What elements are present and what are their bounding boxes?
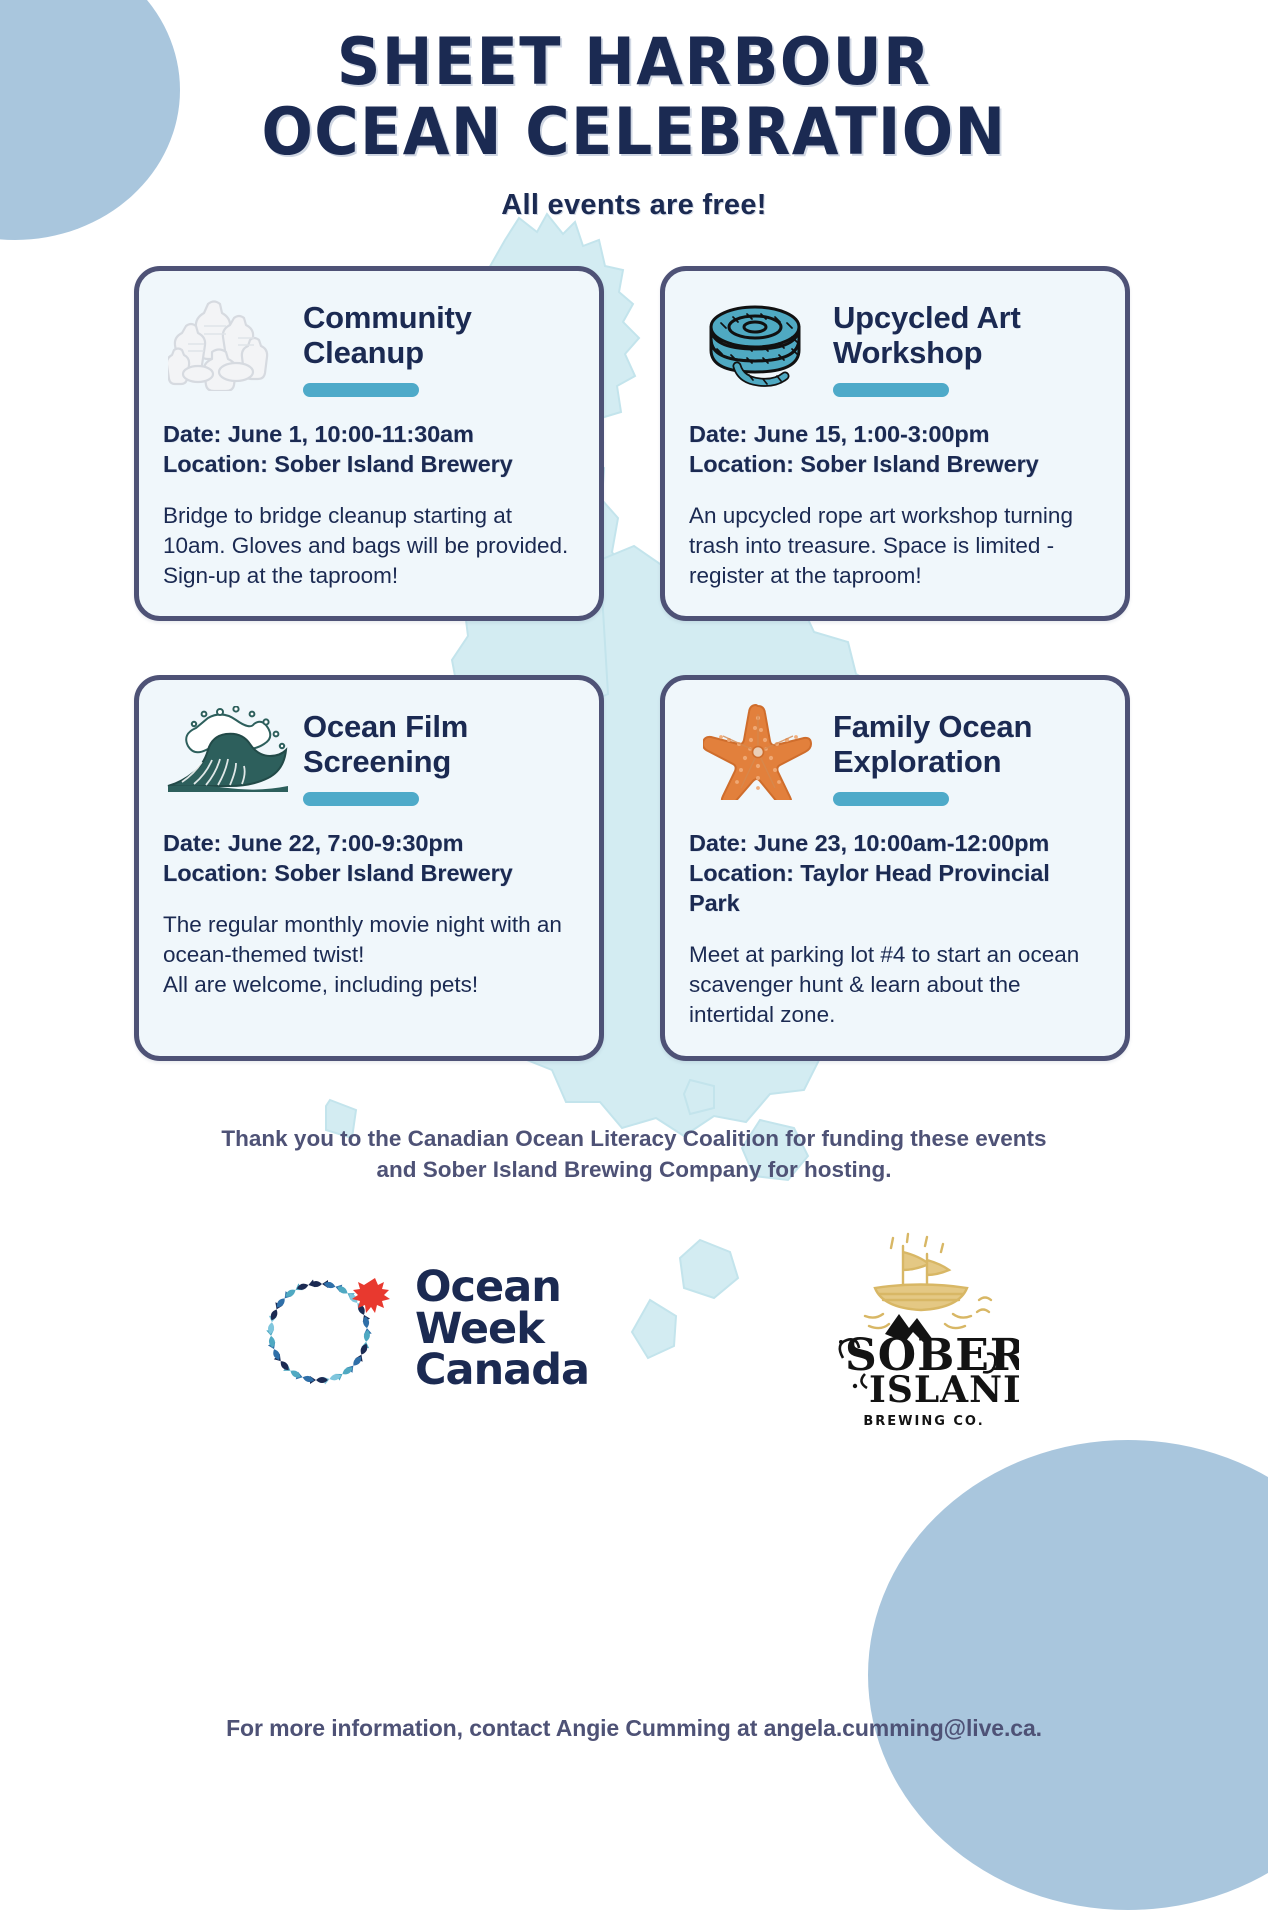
event-date: Date: June 1, 10:00-11:30am [163,419,575,449]
card-title-line-2: Screening [303,744,451,779]
acknowledgement-line-2: and Sober Island Brewing Company for hos… [169,1154,1099,1186]
event-date: Date: June 23, 10:00am-12:00pm [689,828,1101,858]
card-title-line-1: Upcycled Art [833,300,1021,335]
event-date: Date: June 22, 7:00-9:30pm [163,828,575,858]
event-card-community-cleanup[interactable]: Community Cleanup Date: June 1, 10:00-11… [134,266,604,621]
event-location: Location: Sober Island Brewery [163,858,575,888]
logo-word-ocean: Ocean [415,1267,589,1309]
starfish-icon [693,702,823,802]
title-accent-bar [833,792,949,806]
card-title-line-2: Cleanup [303,335,424,370]
card-title-line-1: Ocean Film [303,709,468,744]
coiled-rope-icon [693,293,823,393]
event-card-ocean-film-screening[interactable]: Ocean Film Screening Date: June 22, 7:00… [134,675,604,1060]
sober-island-brewing-logo: SOBER ISLAND BREWING CO. [829,1230,1019,1429]
fish-ring-icon [249,1254,399,1404]
title-accent-bar [303,792,419,806]
card-title-line-2: Workshop [833,335,982,370]
card-title-line-2: Exploration [833,744,1001,779]
ocean-wave-icon [163,702,293,802]
ocean-week-canada-logo: Ocean Week Canada [249,1254,589,1404]
event-card-family-ocean-exploration[interactable]: Family Ocean Exploration Date: June 23, … [660,675,1130,1060]
event-description: Bridge to bridge cleanup starting at 10a… [163,501,575,591]
event-card-upcycled-art-workshop[interactable]: Upcycled Art Workshop Date: June 15, 1:0… [660,266,1130,621]
subtitle-all-events-free: All events are free! [0,189,1268,222]
poster-header: SHEET HARBOUR OCEAN CELEBRATION All even… [0,0,1268,222]
page-title-line-2: OCEAN CELEBRATION [44,98,1223,168]
maple-leaf-icon [352,1278,390,1313]
footer-contact-line: For more information, contact Angie Cumm… [0,1715,1268,1742]
logo-word-week: Week [415,1309,589,1351]
logo-word-canada: Canada [415,1350,589,1392]
acknowledgement-text: Thank you to the Canadian Ocean Literacy… [169,1123,1099,1186]
title-accent-bar [303,383,419,397]
event-date: Date: June 15, 1:00-3:00pm [689,419,1101,449]
ocean-week-canada-wordmark: Ocean Week Canada [415,1267,589,1392]
event-description: Meet at parking lot #4 to start an ocean… [689,940,1101,1030]
page-title-line-1: SHEET HARBOUR [44,28,1223,98]
acknowledgement-line-1: Thank you to the Canadian Ocean Literacy… [169,1123,1099,1155]
event-cards-grid: Community Cleanup Date: June 1, 10:00-11… [134,266,1134,1061]
event-location: Location: Taylor Head Provincial Park [689,858,1101,918]
event-description: The regular monthly movie night with an … [163,910,575,1000]
logo-tagline-brewing-co: BREWING CO. [829,1414,1019,1429]
event-description: An upcycled rope art workshop turning tr… [689,501,1101,591]
card-title-line-1: Family Ocean [833,709,1032,744]
logo-word-island: ISLAND [869,1369,1019,1411]
card-title-line-1: Community [303,300,472,335]
sponsor-logos: Ocean Week Canada SOBER ISL [129,1230,1139,1429]
title-accent-bar [833,383,949,397]
plastic-bottles-icon [163,293,293,393]
event-location: Location: Sober Island Brewery [689,449,1101,479]
event-location: Location: Sober Island Brewery [163,449,575,479]
